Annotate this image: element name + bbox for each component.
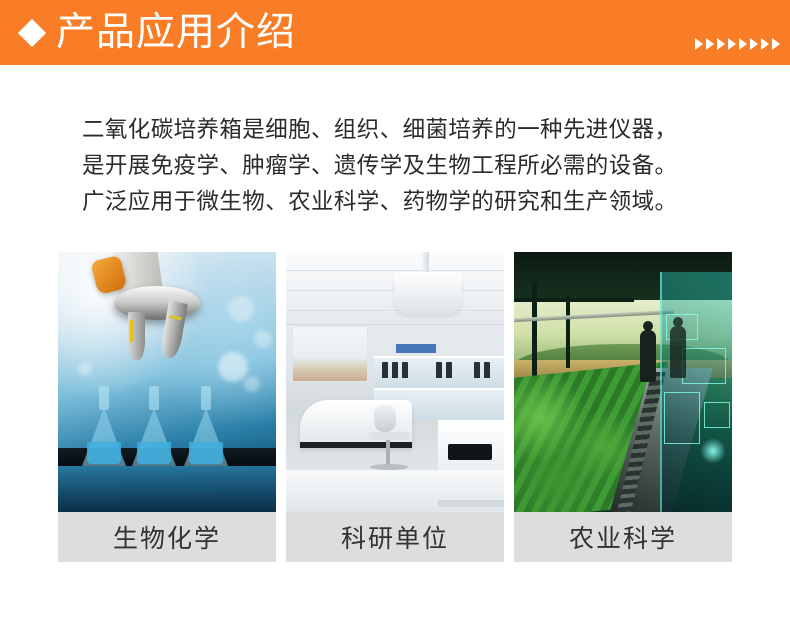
- laboratory-interior-photo: [286, 252, 504, 512]
- triangle-right-icon: [761, 38, 769, 50]
- triangle-right-icon: [739, 38, 747, 50]
- diamond-icon: [18, 18, 46, 46]
- page-title: 产品应用介绍: [56, 11, 296, 55]
- intro-line-2: 是开展免疫学、肿瘤学、遗传学及生物工程所必需的设备。: [82, 148, 722, 184]
- header-arrow-decoration: [695, 38, 780, 50]
- intro-line-3: 广泛应用于微生物、农业科学、药物学的研究和生产领域。: [82, 184, 722, 220]
- triangle-right-icon: [706, 38, 714, 50]
- application-card-agriculture[interactable]: 农业科学: [514, 252, 732, 562]
- triangle-right-icon: [717, 38, 725, 50]
- intro-paragraph: 二氧化碳培养箱是细胞、组织、细菌培养的一种先进仪器， 是开展免疫学、肿瘤学、遗传…: [82, 112, 722, 220]
- triangle-right-icon: [728, 38, 736, 50]
- application-card-biochemistry[interactable]: 生物化学: [58, 252, 276, 562]
- smart-greenhouse-photo: [514, 252, 732, 512]
- section-header-bar: 产品应用介绍: [0, 0, 790, 65]
- triangle-right-icon: [772, 38, 780, 50]
- product-application-page: 产品应用介绍 二氧化碳培养箱是细胞、组织、细菌培养的一种先进仪器， 是开展免疫学…: [0, 0, 790, 628]
- application-card-research-institute[interactable]: 科研单位: [286, 252, 504, 562]
- triangle-right-icon: [750, 38, 758, 50]
- card-caption-biochemistry: 生物化学: [58, 512, 276, 562]
- card-caption-agriculture: 农业科学: [514, 512, 732, 562]
- triangle-right-icon: [695, 38, 703, 50]
- microscope-flasks-photo: [58, 252, 276, 512]
- intro-line-1: 二氧化碳培养箱是细胞、组织、细菌培养的一种先进仪器，: [82, 112, 722, 148]
- card-caption-research-institute: 科研单位: [286, 512, 504, 562]
- application-card-list: 生物化学: [58, 252, 732, 562]
